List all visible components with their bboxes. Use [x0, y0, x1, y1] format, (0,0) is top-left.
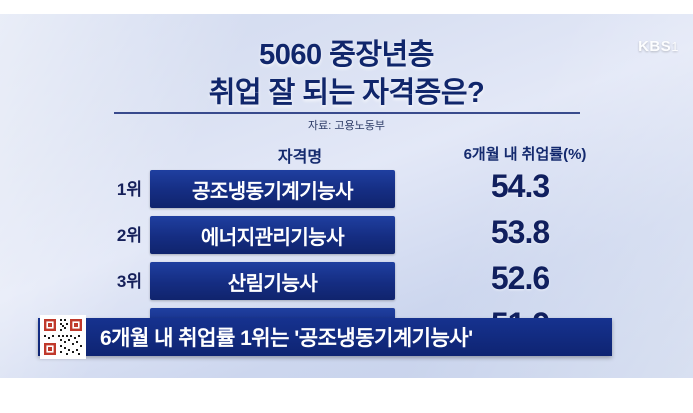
table-row: 2위 에너지관리기능사 53.8 — [100, 216, 600, 257]
row-bar: 에너지관리기능사 — [150, 216, 395, 254]
page-title: 5060 중장년층 취업 잘 되는 자격증은? — [0, 36, 693, 113]
row-value: 54.3 — [400, 168, 640, 205]
qr-code-icon — [40, 315, 86, 359]
column-header-rate: 6개월 내 취업률(%) — [410, 143, 640, 164]
row-bar: 산림기능사 — [150, 262, 395, 300]
top-letterbox — [0, 0, 693, 14]
headline-line-2: 취업 잘 되는 자격증은? — [0, 74, 693, 112]
row-rank: 1위 — [100, 175, 142, 200]
row-value: 53.8 — [400, 214, 640, 251]
row-name: 공조냉동기계기능사 — [192, 175, 353, 204]
table-row: 1위 공조냉동기계기능사 54.3 — [100, 170, 600, 211]
row-name: 산림기능사 — [228, 267, 318, 296]
row-value: 52.6 — [400, 260, 640, 297]
column-header-name: 자격명 — [200, 143, 400, 167]
broadcast-graphic: KBS1 5060 중장년층 취업 잘 되는 자격증은? 자료: 고용노동부 자… — [0, 0, 693, 413]
title-divider — [114, 112, 580, 114]
lower-third-ticker: 6개월 내 취업률 1위는 '공조냉동기계기능사' — [38, 318, 612, 356]
row-rank: 3위 — [100, 267, 142, 292]
table-header: 자격명 6개월 내 취업률(%) — [100, 143, 600, 165]
row-bar: 공조냉동기계기능사 — [150, 170, 395, 208]
row-name: 에너지관리기능사 — [201, 221, 344, 250]
row-rank: 2위 — [100, 221, 142, 246]
bottom-letterbox — [0, 378, 693, 413]
source-note: 자료: 고용노동부 — [0, 117, 693, 133]
ticker-text: 6개월 내 취업률 1위는 '공조냉동기계기능사' — [100, 322, 473, 352]
qr-code-svg — [42, 317, 84, 357]
headline-line-1: 5060 중장년층 — [0, 36, 693, 74]
table-row: 3위 산림기능사 52.6 — [100, 262, 600, 303]
